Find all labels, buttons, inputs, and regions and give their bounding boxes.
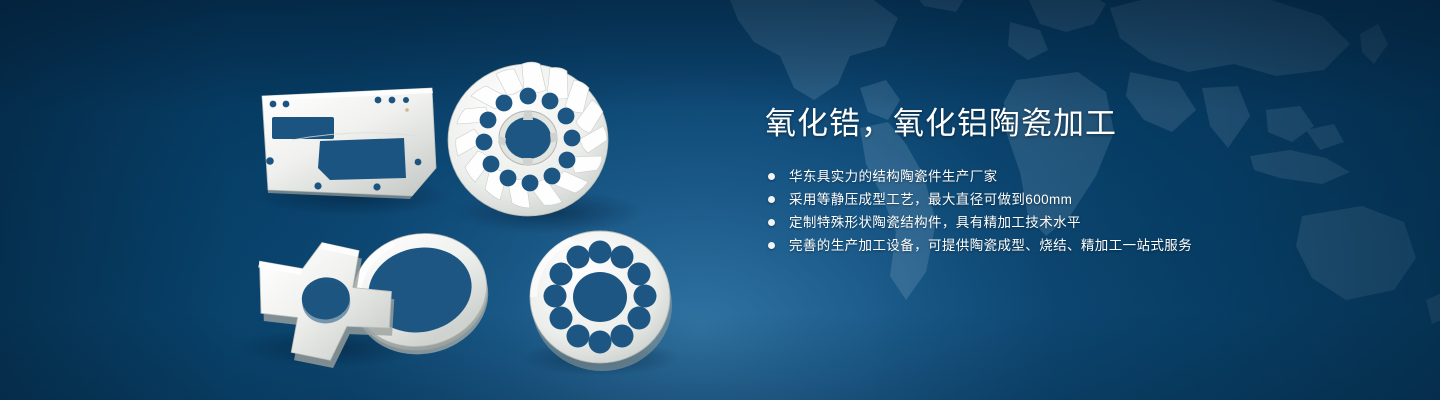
banner-copy: 氧化锆，氧化铝陶瓷加工 华东具实力的结构陶瓷件生产厂家 采用等静压成型工艺，最大… bbox=[765, 104, 1385, 257]
feature-text: 华东具实力的结构陶瓷件生产厂家 bbox=[789, 169, 998, 184]
ceramic-perforated-disc bbox=[530, 231, 672, 371]
ceramic-flat-plate bbox=[262, 88, 436, 199]
feature-list: 华东具实力的结构陶瓷件生产厂家 采用等静压成型工艺，最大直径可做到600mm 定… bbox=[765, 165, 1385, 257]
feature-text: 定制特殊形状陶瓷结构件，具有精加工技术水平 bbox=[789, 215, 1081, 230]
ceramic-impeller bbox=[448, 62, 608, 216]
banner-headline: 氧化锆，氧化铝陶瓷加工 bbox=[765, 104, 1385, 144]
bullet-dot-icon bbox=[768, 173, 775, 180]
bullet-dot-icon bbox=[768, 242, 775, 249]
bullet-dot-icon bbox=[768, 196, 775, 203]
feature-item: 采用等静压成型工艺，最大直径可做到600mm bbox=[765, 188, 1385, 211]
feature-text: 采用等静压成型工艺，最大直径可做到600mm bbox=[789, 192, 1072, 207]
feature-item: 定制特殊形状陶瓷结构件，具有精加工技术水平 bbox=[765, 211, 1385, 234]
bullet-dot-icon bbox=[768, 219, 775, 226]
feature-text: 完善的生产加工设备，可提供陶瓷成型、烧结、精加工一站式服务 bbox=[789, 238, 1192, 253]
product-photo-group bbox=[0, 0, 760, 400]
feature-item: 完善的生产加工设备，可提供陶瓷成型、烧结、精加工一站式服务 bbox=[765, 234, 1385, 257]
feature-item: 华东具实力的结构陶瓷件生产厂家 bbox=[765, 165, 1385, 188]
hero-banner: 氧化锆，氧化铝陶瓷加工 华东具实力的结构陶瓷件生产厂家 采用等静压成型工艺，最大… bbox=[0, 0, 1440, 400]
